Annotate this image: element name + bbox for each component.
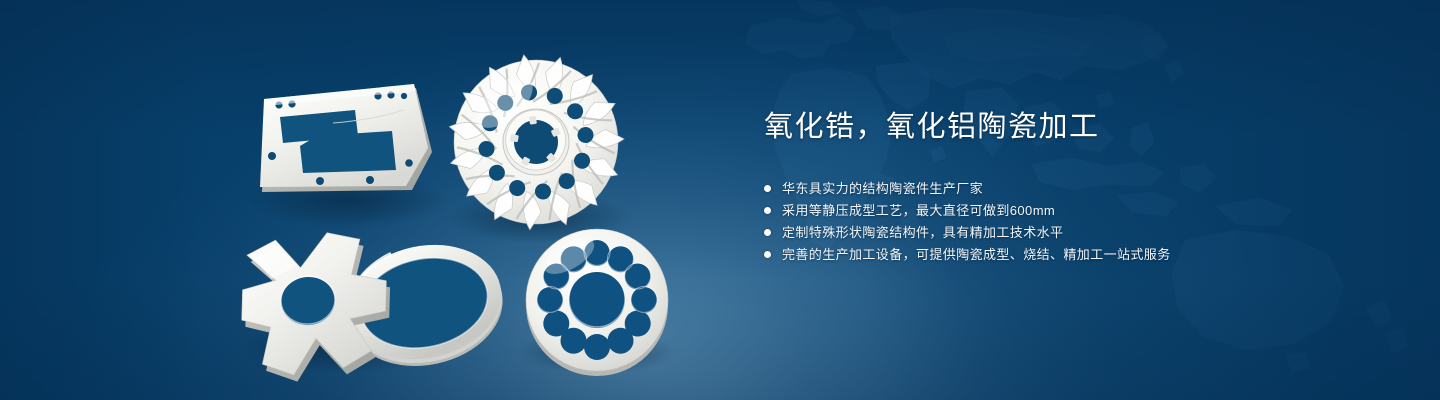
- product-photo-group: [0, 0, 740, 400]
- ceramic-mounting-plate: [260, 84, 432, 192]
- feature-text: 完善的生产加工设备，可提供陶瓷成型、烧结、精加工一站式服务: [782, 244, 1171, 266]
- feature-list: 华东具实力的结构陶瓷件生产厂家 采用等静压成型工艺，最大直径可做到600mm 定…: [764, 178, 1404, 266]
- bullet-dot-icon: [764, 207, 771, 214]
- bullet-dot-icon: [764, 185, 771, 192]
- ceramic-perforated-disc: [526, 229, 668, 376]
- banner-copy: 氧化锆，氧化铝陶瓷加工 华东具实力的结构陶瓷件生产厂家 采用等静压成型工艺，最大…: [764, 110, 1404, 266]
- list-item: 华东具实力的结构陶瓷件生产厂家: [764, 178, 1404, 200]
- hero-banner: 氧化锆，氧化铝陶瓷加工 华东具实力的结构陶瓷件生产厂家 采用等静压成型工艺，最大…: [0, 0, 1440, 400]
- list-item: 完善的生产加工设备，可提供陶瓷成型、烧结、精加工一站式服务: [764, 244, 1404, 266]
- feature-text: 华东具实力的结构陶瓷件生产厂家: [782, 178, 983, 200]
- feature-text: 定制特殊形状陶瓷结构件，具有精加工技术水平: [782, 222, 1063, 244]
- list-item: 采用等静压成型工艺，最大直径可做到600mm: [764, 200, 1404, 222]
- page-title: 氧化锆，氧化铝陶瓷加工: [764, 110, 1404, 145]
- bullet-dot-icon: [764, 229, 771, 236]
- bullet-dot-icon: [764, 251, 771, 258]
- list-item: 定制特殊形状陶瓷结构件，具有精加工技术水平: [764, 222, 1404, 244]
- feature-text: 采用等静压成型工艺，最大直径可做到600mm: [782, 200, 1055, 222]
